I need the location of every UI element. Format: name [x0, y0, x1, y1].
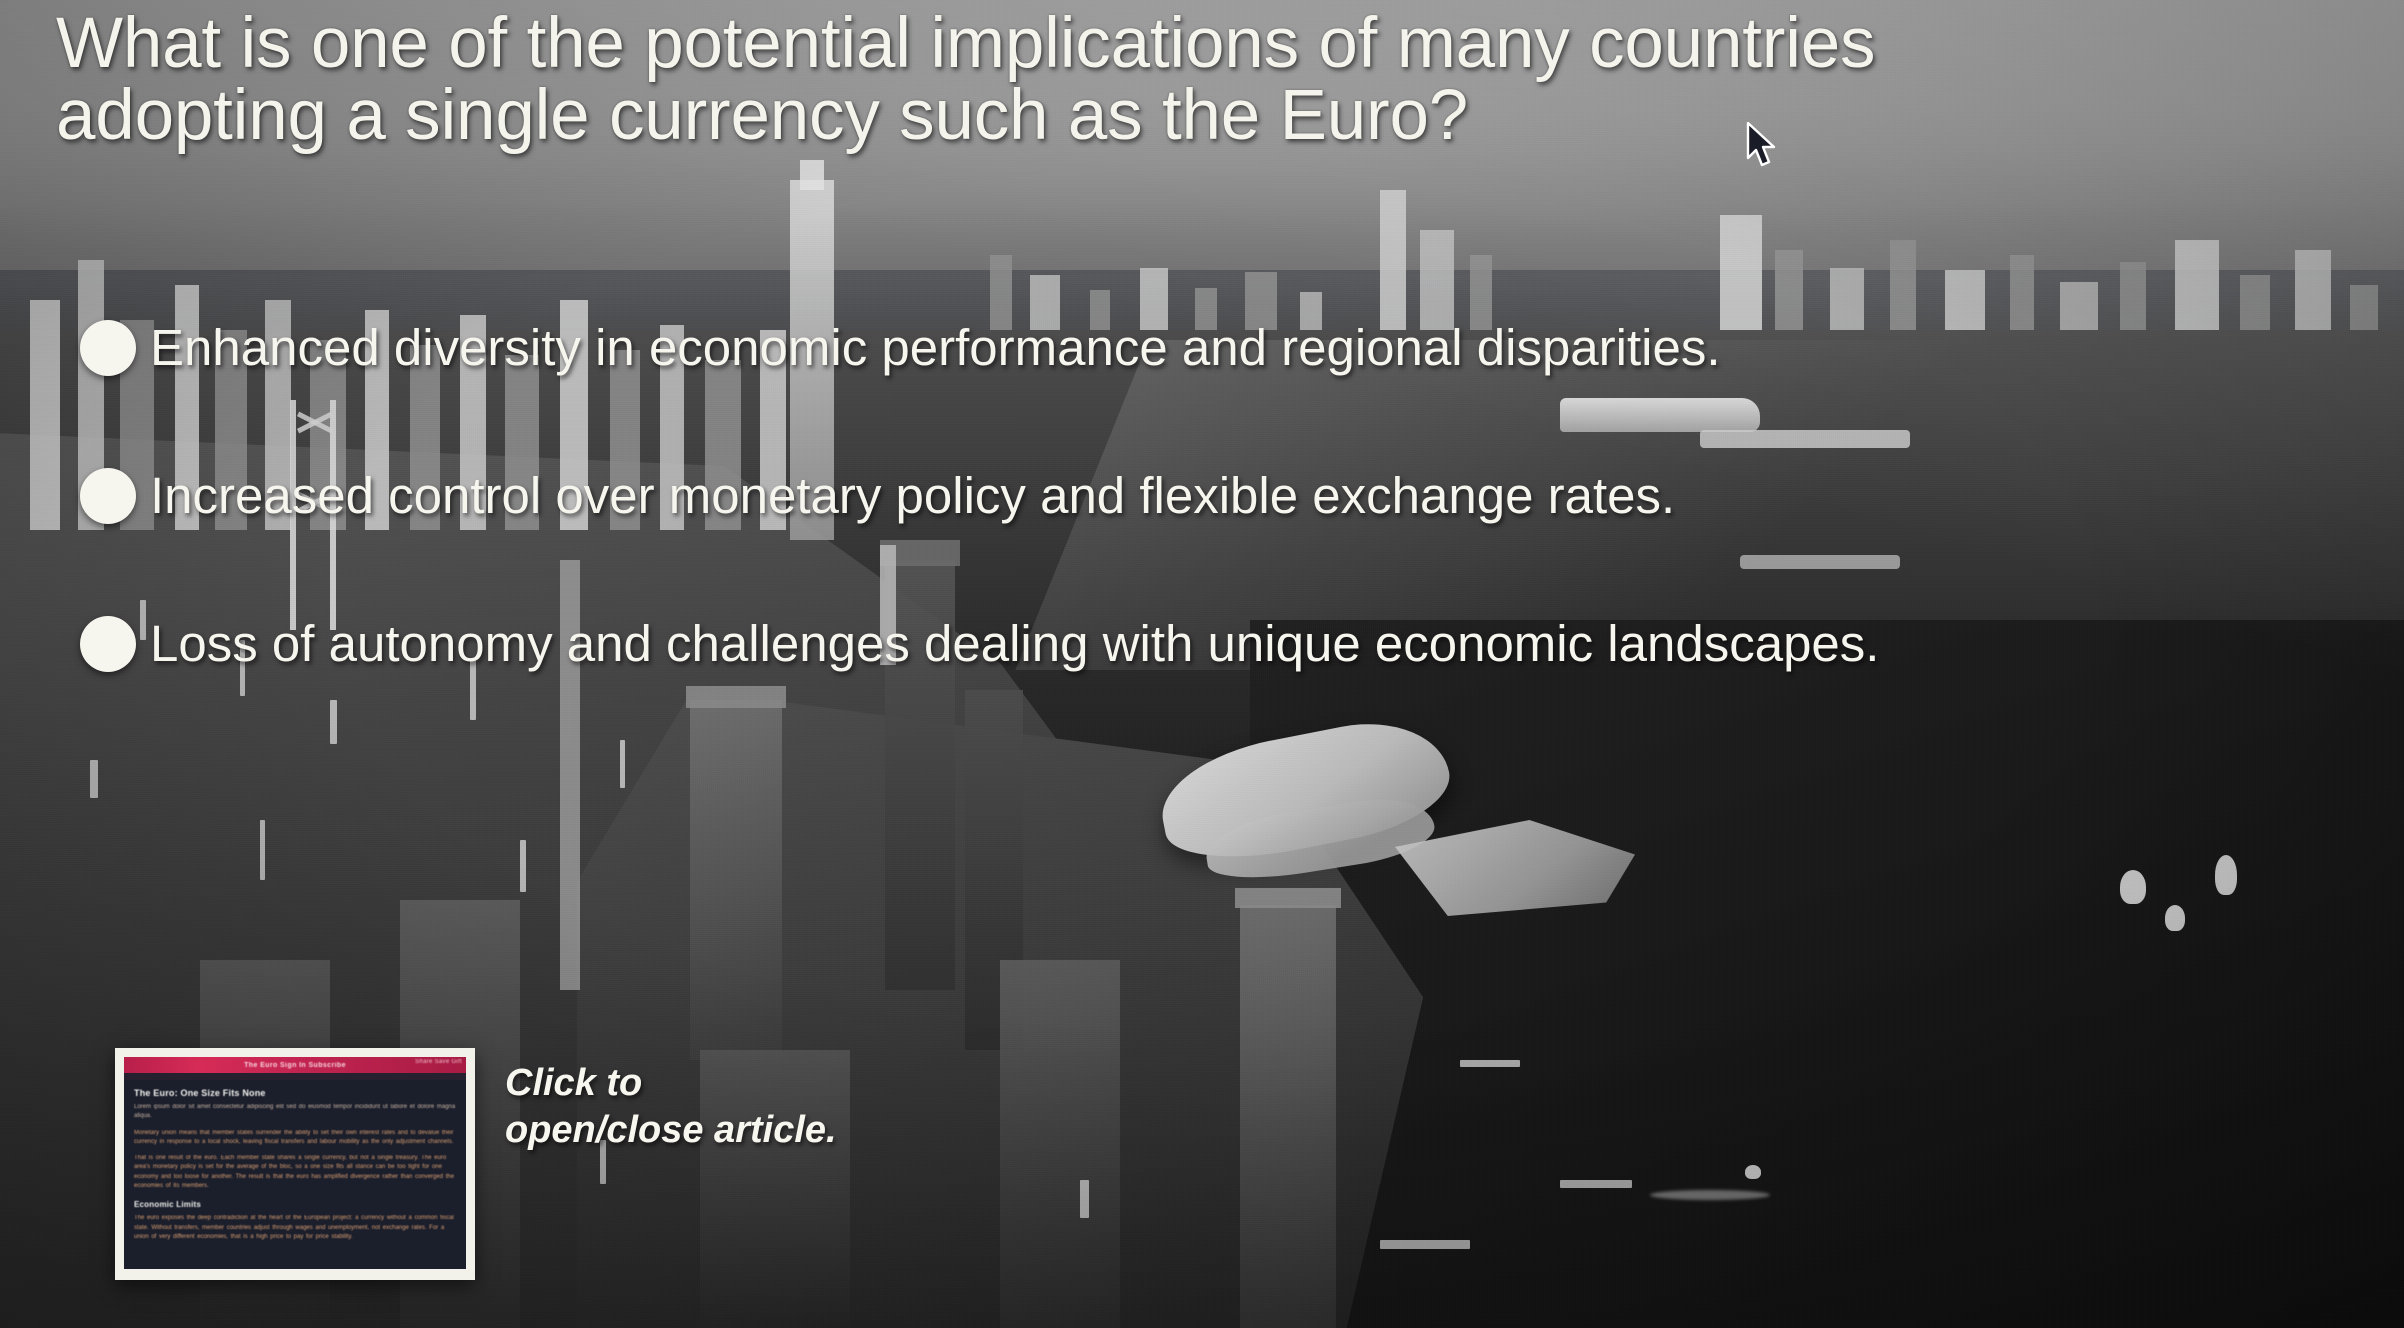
answer-options-list: Enhanced diversity in economic performan… — [60, 320, 2340, 764]
article-thumbnail-preview: The Euro Sign In Subscribe Share Save Gi… — [124, 1057, 466, 1269]
radio-button-icon-a[interactable] — [80, 320, 136, 376]
answer-option-b[interactable]: Increased control over monetary policy a… — [60, 468, 2340, 524]
article-subheading: Economic Limits — [134, 1200, 456, 1209]
answer-option-a-label: Enhanced diversity in economic performan… — [150, 321, 1721, 375]
question-text: What is one of the potential implication… — [56, 8, 2356, 153]
article-topbar-tools: Share Save Gift — [415, 1059, 462, 1065]
article-topbar-title: The Euro Sign In Subscribe — [244, 1062, 346, 1069]
article-body: The Euro: One Size Fits None Lorem ipsum… — [124, 1080, 466, 1255]
article-heading: The Euro: One Size Fits None — [134, 1088, 456, 1098]
answer-option-a[interactable]: Enhanced diversity in economic performan… — [60, 320, 2340, 376]
article-paragraph-2: Monetary union means that member states … — [134, 1129, 456, 1148]
arrow-pointer-cursor — [1745, 122, 1779, 170]
article-toggle-caption: Click to open/close article. — [505, 1060, 837, 1154]
radio-button-icon-c[interactable] — [80, 616, 136, 672]
article-paragraph-4: The euro exposes the deep contradiction … — [134, 1214, 456, 1242]
article-thumbnail-button[interactable]: The Euro Sign In Subscribe Share Save Gi… — [115, 1048, 475, 1280]
radio-button-icon-b[interactable] — [80, 468, 136, 524]
quiz-slide: What is one of the potential implication… — [0, 0, 2404, 1328]
article-topbar: The Euro Sign In Subscribe Share Save Gi… — [124, 1057, 466, 1073]
answer-option-c-label: Loss of autonomy and challenges dealing … — [150, 617, 1879, 671]
article-paragraph-1: Lorem ipsum dolor sit amet consectetur a… — [134, 1103, 456, 1122]
answer-option-b-label: Increased control over monetary policy a… — [150, 469, 1675, 523]
article-paragraph-3: That is one result of the euro. Each mem… — [134, 1154, 456, 1191]
article-subbar — [124, 1073, 466, 1080]
answer-option-c[interactable]: Loss of autonomy and challenges dealing … — [60, 616, 2340, 672]
slide-content: What is one of the potential implication… — [0, 0, 2404, 1328]
